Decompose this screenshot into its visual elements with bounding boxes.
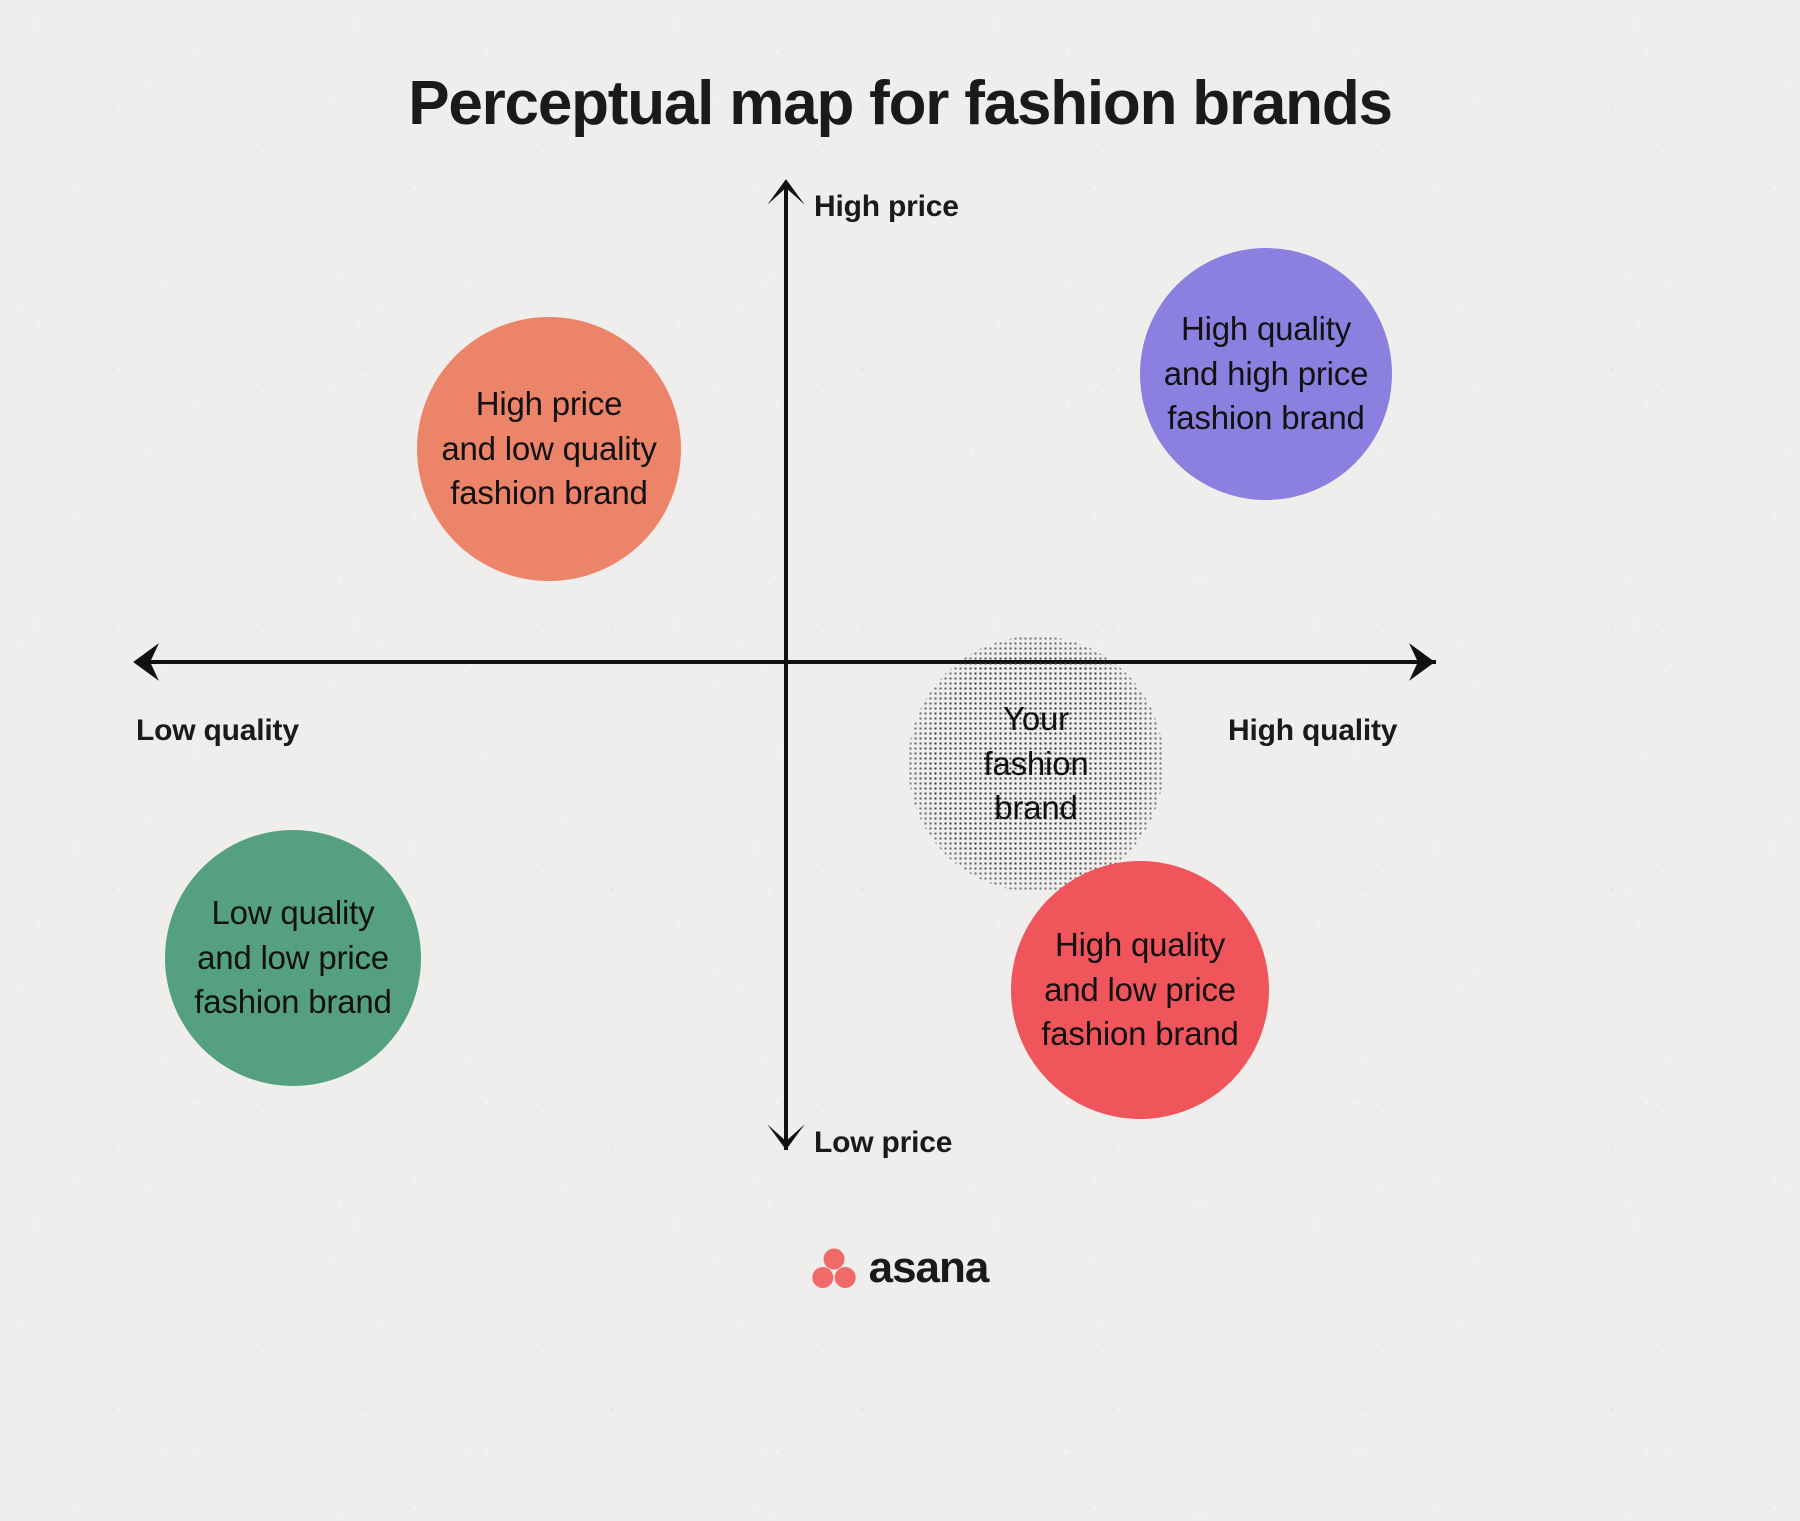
page-title: Perceptual map for fashion brands: [0, 68, 1800, 139]
bubble-label-line3: brand: [994, 789, 1077, 826]
asana-logo: asana: [0, 1246, 1800, 1290]
asana-wordmark: asana: [869, 1246, 989, 1290]
bubble-label-line2: and high price: [1164, 355, 1369, 392]
axis-label-high-price: High price: [814, 190, 959, 224]
bubble-label-line2: and low price: [197, 939, 389, 976]
bubble-your-fashion-brand-label: Your fashion brand: [908, 636, 1164, 892]
bubble-high-quality-low-price: High quality and low price fashion brand: [1011, 861, 1269, 1119]
asana-logo-icon: [812, 1248, 856, 1288]
bubble-label-line1: High quality: [1181, 310, 1351, 347]
bubble-label-line1: Your: [1003, 700, 1069, 737]
bubble-label-line3: fashion brand: [1167, 399, 1364, 436]
bubble-label-line3: fashion brand: [450, 474, 647, 511]
bubble-label-line3: fashion brand: [1041, 1015, 1238, 1052]
axis-label-low-price: Low price: [814, 1126, 952, 1160]
bubble-label-line1: High quality: [1055, 926, 1225, 963]
bubble-label-line2: and low price: [1044, 971, 1236, 1008]
bubble-label-line1: Low quality: [212, 894, 375, 931]
bubble-low-quality-low-price: Low quality and low price fashion brand: [165, 830, 421, 1086]
bubble-label-line3: fashion brand: [194, 983, 391, 1020]
bubble-label-line2: fashion: [983, 745, 1088, 782]
paper-texture: [0, 0, 1800, 1521]
axis-label-low-quality: Low quality: [136, 714, 299, 748]
bubble-label-line2: and low quality: [441, 430, 656, 467]
bubble-label-line1: High price: [476, 385, 623, 422]
bubble-high-price-low-quality: High price and low quality fashion brand: [417, 317, 681, 581]
quality-axis-line: [140, 660, 1436, 664]
axis-label-high-quality: High quality: [1228, 714, 1397, 748]
price-axis-line: [784, 186, 788, 1150]
bubble-high-quality-high-price: High quality and high price fashion bran…: [1140, 248, 1392, 500]
